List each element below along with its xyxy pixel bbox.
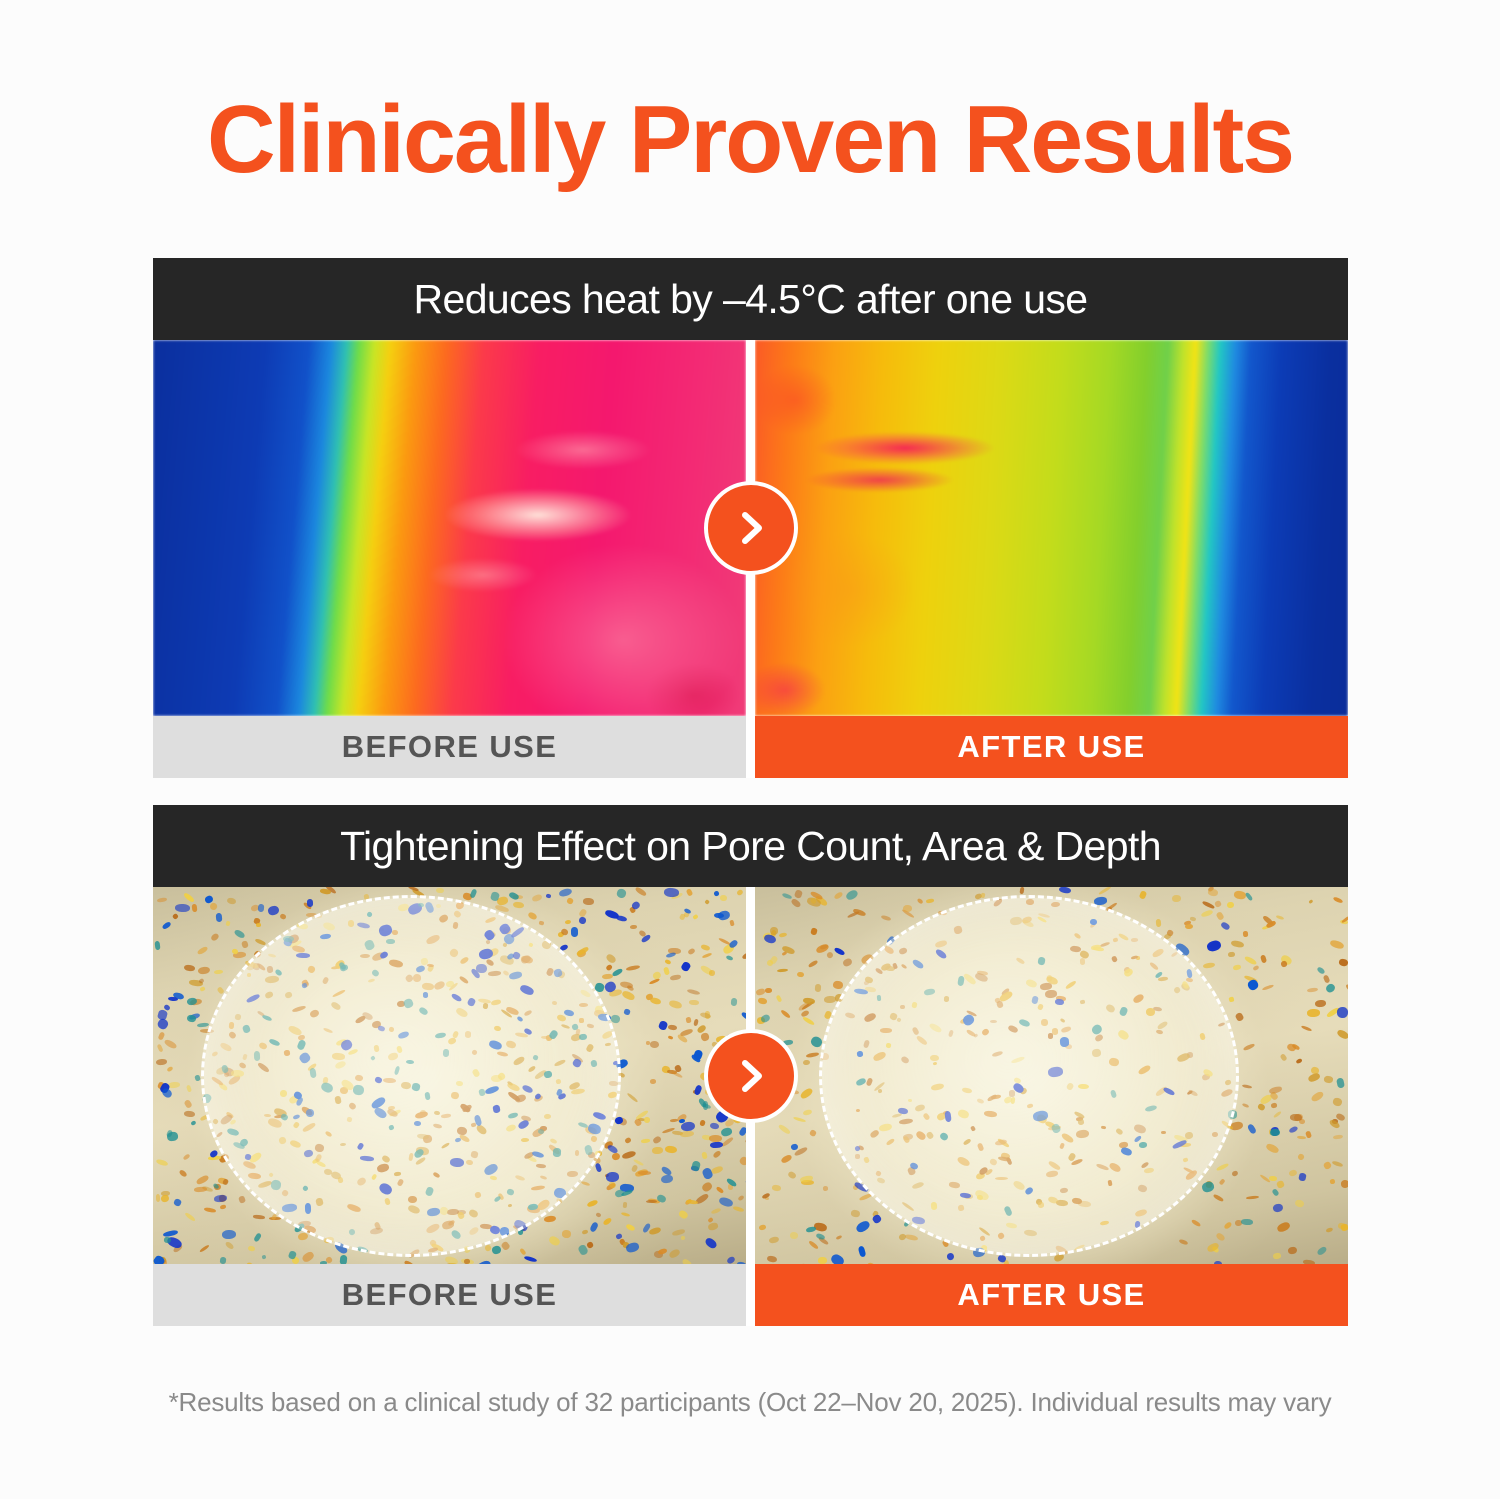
thermal-map-before [153,340,746,716]
before-after-images-pores [153,887,1348,1264]
chevron-right-icon[interactable] [704,481,798,575]
caption-row-thermal: BEFORE USE AFTER USE [153,716,1348,778]
result-panel-thermal: Reduces heat by –4.5°C after one use BEF… [153,258,1348,778]
thermal-before-image [153,340,746,716]
before-use-label: BEFORE USE [153,716,746,778]
page-title: Clinically Proven Results [8,88,1493,192]
after-use-label: AFTER USE [755,1264,1348,1326]
thermal-map-after [755,340,1348,716]
pore-before-image [153,887,746,1264]
thermal-after-image [755,340,1348,716]
analysis-circle-before [201,895,621,1257]
pore-after-image [755,887,1348,1264]
chevron-right-icon[interactable] [704,1029,798,1123]
after-use-label: AFTER USE [755,716,1348,778]
caption-row-pores: BEFORE USE AFTER USE [153,1264,1348,1326]
result-panel-pores: Tightening Effect on Pore Count, Area & … [153,805,1348,1326]
before-after-images-thermal [153,340,1348,716]
disclaimer-footnote: *Results based on a clinical study of 32… [0,1387,1500,1418]
before-use-label: BEFORE USE [153,1264,746,1326]
clinical-results-infographic: Clinically Proven Results Reduces heat b… [0,0,1500,1499]
panel-title-thermal: Reduces heat by –4.5°C after one use [153,258,1348,340]
analysis-circle-after [819,895,1239,1257]
panel-title-pores: Tightening Effect on Pore Count, Area & … [153,805,1348,887]
